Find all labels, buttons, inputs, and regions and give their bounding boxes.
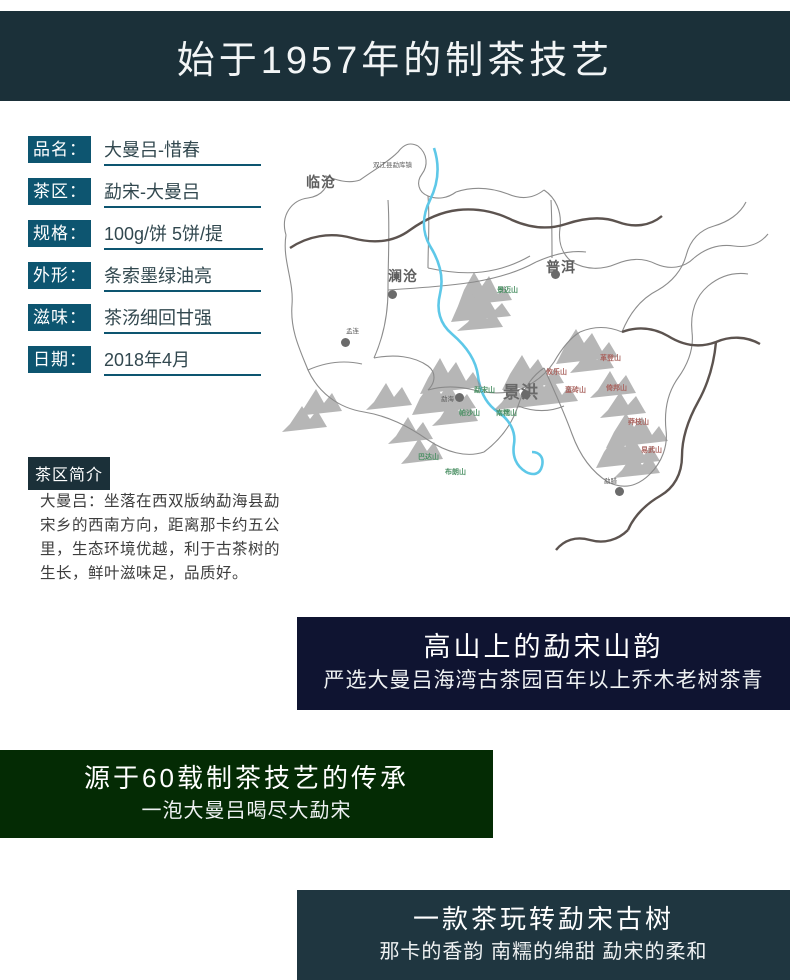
map-city-dot <box>521 390 530 399</box>
spec-value: 100g/饼 5饼/提 <box>104 219 223 249</box>
spec-value: 大曼吕-惜春 <box>104 135 200 165</box>
spec-underline <box>104 206 261 208</box>
spec-underline <box>104 374 261 376</box>
spec-underline <box>104 332 261 334</box>
map-mountain-label: 布朗山 <box>445 467 466 477</box>
page-title: 始于1957年的制茶技艺 <box>177 29 614 84</box>
spec-underline <box>104 248 263 250</box>
spec-underline <box>104 290 261 292</box>
callout-subtitle: 一泡大曼吕喝尽大勐宋 <box>142 798 352 824</box>
map-mountain-label: 景迈山 <box>497 285 518 295</box>
map-graphic <box>278 140 778 610</box>
map-city-dot <box>551 270 560 279</box>
spec-label: 品名： <box>28 136 91 163</box>
map-city-dot <box>615 487 624 496</box>
spec-row: 外形： 条索墨绿油亮 <box>28 262 273 304</box>
map-mountain-label: 南糯山 <box>496 408 517 418</box>
map-mountain-label: 莽枝山 <box>628 417 649 427</box>
map-mountain-label: 勐宋山 <box>474 385 495 395</box>
map-city-label: 勐腊 <box>604 475 617 485</box>
map-city-label: 景洪 <box>503 378 539 403</box>
spec-row: 滋味： 茶汤细回甘强 <box>28 304 273 346</box>
callout-title: 高山上的勐宋山韵 <box>424 632 664 663</box>
callout-subtitle: 严选大曼吕海湾古茶园百年以上乔木老树茶青 <box>324 667 764 694</box>
spec-value: 勐宋-大曼吕 <box>104 177 200 207</box>
map-mountain-label: 巴达山 <box>418 452 439 462</box>
callout-banner-ancient-tree: 一款茶玩转勐宋古树 那卡的香韵 南糯的绵甜 勐宋的柔和 <box>297 890 790 980</box>
spec-label: 茶区： <box>28 178 91 205</box>
callout-subtitle: 那卡的香韵 南糯的绵甜 勐宋的柔和 <box>379 939 707 965</box>
callout-banner-heritage: 源于60载制茶技艺的传承 一泡大曼吕喝尽大勐宋 <box>0 750 493 838</box>
callout-banner-mengsong: 高山上的勐宋山韵 严选大曼吕海湾古茶园百年以上乔木老树茶青 <box>297 617 790 710</box>
map-mountain-label: 蛮砖山 <box>565 385 586 395</box>
spec-value: 茶汤细回甘强 <box>104 303 212 333</box>
map-city-dot <box>341 338 350 347</box>
spec-underline <box>104 164 261 166</box>
map-mountain-label: 革登山 <box>600 353 621 363</box>
spec-row: 品名： 大曼吕-惜春 <box>28 136 273 178</box>
product-detail-page: 始于1957年的制茶技艺 品名： 大曼吕-惜春 茶区： 勐宋-大曼吕 规格： 1… <box>0 0 790 980</box>
map-mountain-label: 易武山 <box>641 445 662 455</box>
intro-badge: 茶区简介 <box>28 457 110 490</box>
map-mountain-label: 帕沙山 <box>459 408 480 418</box>
spec-value: 2018年4月 <box>104 345 190 375</box>
spec-value: 条索墨绿油亮 <box>104 261 212 291</box>
map-city-dot <box>388 290 397 299</box>
map-city-label: 勐海 <box>441 393 454 403</box>
map-city-label: 临沧 <box>306 172 336 192</box>
spec-label: 规格： <box>28 220 91 247</box>
map-city-dot <box>455 393 464 402</box>
map-mountain-label: 攸乐山 <box>546 367 567 377</box>
spec-list: 品名： 大曼吕-惜春 茶区： 勐宋-大曼吕 规格： 100g/饼 5饼/提 外形… <box>28 136 273 388</box>
spec-label: 滋味： <box>28 304 91 331</box>
spec-row: 茶区： 勐宋-大曼吕 <box>28 178 273 220</box>
map-city-label: 孟连 <box>346 325 359 335</box>
map-mountain-label: 倚邦山 <box>606 383 627 393</box>
tea-region-map: 临沧 双江县勐库镇 澜沧 孟连 普洱 景洪 勐海 勐腊 景迈山 勐宋山 帕沙山 … <box>278 140 778 610</box>
spec-label: 外形： <box>28 262 91 289</box>
map-city-label: 双江县勐库镇 <box>373 159 412 169</box>
spec-row: 规格： 100g/饼 5饼/提 <box>28 220 273 262</box>
callout-title: 源于60载制茶技艺的传承 <box>84 764 409 794</box>
header-banner: 始于1957年的制茶技艺 <box>0 11 790 101</box>
map-city-label: 澜沧 <box>388 266 418 286</box>
spec-label: 日期： <box>28 346 91 373</box>
callout-title: 一款茶玩转勐宋古树 <box>413 905 674 935</box>
intro-text: 大曼吕：坐落在西双版纳勐海县勐宋乡的西南方向，距离那卡约五公里，生态环境优越，利… <box>40 490 290 586</box>
spec-row: 日期： 2018年4月 <box>28 346 273 388</box>
